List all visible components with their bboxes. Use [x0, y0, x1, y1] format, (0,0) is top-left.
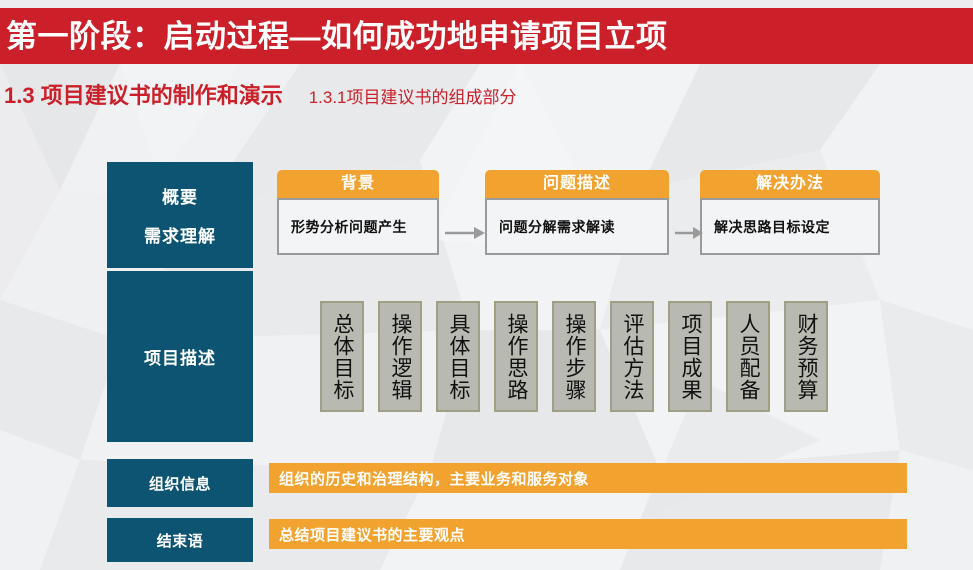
sidebar-item-org-info-label: 组织信息	[149, 473, 211, 494]
vertical-tile-label: 项目成果	[679, 313, 701, 401]
slide-canvas: 第一阶段：启动过程—如何成功地申请项目立项 1.3 项目建议书的制作和演示 1.…	[0, 0, 973, 570]
vertical-tile[interactable]: 具体目标	[436, 301, 480, 412]
vertical-tile[interactable]: 财务预算	[784, 301, 828, 412]
sidebar-item-org-info[interactable]: 组织信息	[107, 459, 253, 507]
vertical-tile-label: 总体目标	[331, 313, 353, 401]
flow-card-problem-statement-header: 问题描述	[485, 170, 669, 198]
org-info-bar[interactable]: 组织的历史和治理结构，主要业务和服务对象	[269, 463, 907, 493]
subheading-sub: 1.3.1项目建议书的组成部分	[309, 89, 517, 106]
closing-bar-label: 总结项目建议书的主要观点	[279, 524, 465, 545]
vertical-tile-label: 财务预算	[795, 313, 817, 401]
closing-bar[interactable]: 总结项目建议书的主要观点	[269, 519, 907, 549]
slide-title-bar: 第一阶段：启动过程—如何成功地申请项目立项	[0, 8, 973, 64]
vertical-tile[interactable]: 操作逻辑	[378, 301, 422, 412]
vertical-tile-label: 操作逻辑	[389, 313, 411, 401]
vertical-tile[interactable]: 操作思路	[494, 301, 538, 412]
arrow-right-icon	[674, 225, 704, 241]
page-title: 第一阶段：启动过程—如何成功地申请项目立项	[0, 21, 668, 52]
sidebar-item-closing-label: 结束语	[157, 530, 204, 551]
subheading: 1.3 项目建议书的制作和演示 1.3.1项目建议书的组成部分	[4, 85, 517, 107]
vertical-tile[interactable]: 项目成果	[668, 301, 712, 412]
vertical-tile-label: 具体目标	[447, 313, 469, 401]
flow-card-solution[interactable]: 解决办法 解决思路目标设定	[700, 170, 880, 255]
flow-card-background-body: 形势分析问题产生	[277, 198, 439, 255]
vertical-tile[interactable]: 总体目标	[320, 301, 364, 412]
flow-card-background-header: 背景	[277, 170, 439, 198]
sidebar-item-project-description-label: 项目描述	[144, 344, 216, 369]
flow-card-solution-body: 解决思路目标设定	[700, 198, 880, 255]
vertical-tile-label: 评估方法	[621, 313, 643, 401]
sidebar-item-overview-line1: 概要	[162, 183, 198, 208]
vertical-tile[interactable]: 操作步骤	[552, 301, 596, 412]
sidebar-item-overview-line2: 需求理解	[144, 222, 216, 247]
flow-card-solution-header: 解决办法	[700, 170, 880, 198]
flow-card-background[interactable]: 背景 形势分析问题产生	[277, 170, 439, 255]
flow-card-problem-statement[interactable]: 问题描述 问题分解需求解读	[485, 170, 669, 255]
vertical-tile-label: 操作步骤	[563, 313, 585, 401]
sidebar-item-closing[interactable]: 结束语	[107, 518, 253, 562]
arrow-right-icon	[444, 225, 486, 241]
sidebar-item-project-description[interactable]: 项目描述	[107, 271, 253, 442]
vertical-tile-label: 操作思路	[505, 313, 527, 401]
org-info-bar-label: 组织的历史和治理结构，主要业务和服务对象	[279, 468, 589, 489]
flow-card-problem-statement-body: 问题分解需求解读	[485, 198, 669, 255]
sidebar-item-overview[interactable]: 概要 需求理解	[107, 162, 253, 268]
vertical-tile-label: 人员配备	[737, 313, 759, 401]
vertical-tile-group: 总体目标 操作逻辑 具体目标 操作思路 操作步骤 评估方法 项目成果 人员配备 …	[320, 301, 828, 412]
vertical-tile[interactable]: 评估方法	[610, 301, 654, 412]
vertical-tile[interactable]: 人员配备	[726, 301, 770, 412]
subheading-main: 1.3 项目建议书的制作和演示	[4, 85, 283, 107]
